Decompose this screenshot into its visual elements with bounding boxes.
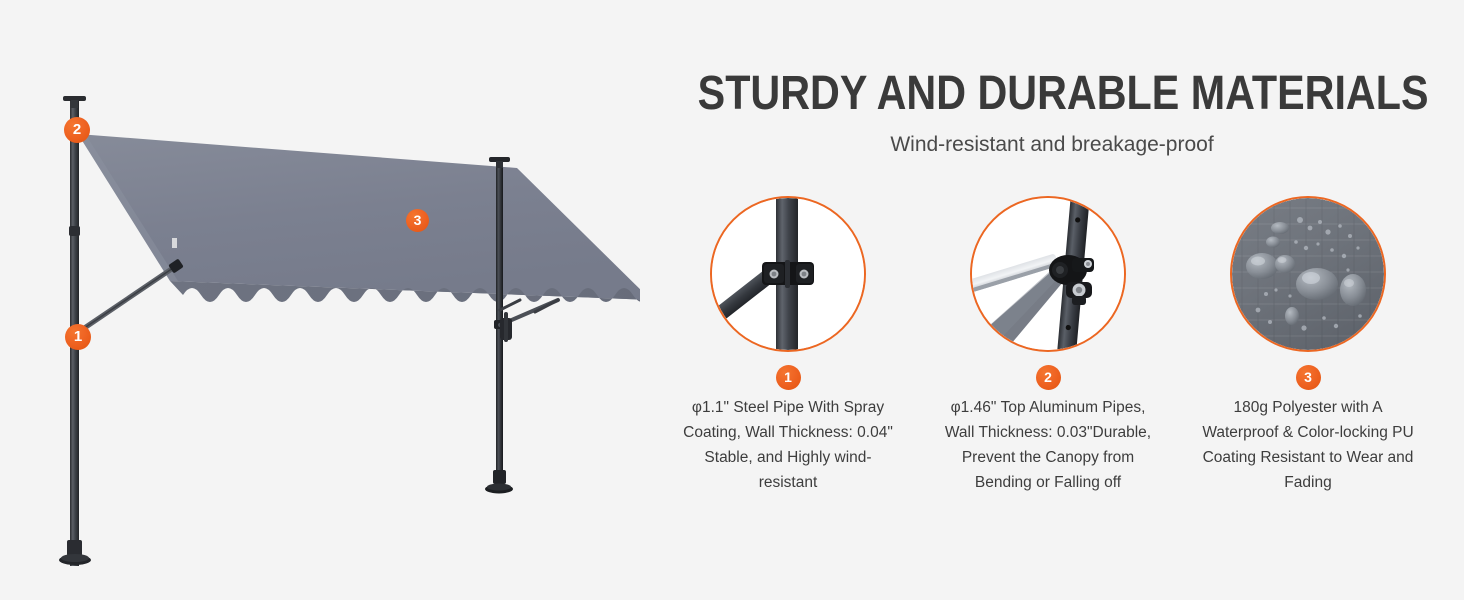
feature-list: 1 φ1.1" Steel Pipe With Spray Coating, W… [640,196,1464,495]
feature-1-badge-wrap: 1 [776,362,801,392]
feature-2-image [970,196,1126,352]
feature-3-image [1230,196,1386,352]
feature-item-1: 1 φ1.1" Steel Pipe With Spray Coating, W… [673,196,903,495]
steel-pipe-bracket-icon [712,198,864,350]
feature-2-badge: 2 [1036,365,1061,390]
hero-marker-1: 1 [65,324,91,350]
hero-marker-3: 3 [406,209,429,232]
feature-item-2: 2 φ1.46" Top Aluminum Pipes, Wall Thickn… [933,196,1163,495]
feature-2-caption: φ1.46" Top Aluminum Pipes, Wall Thicknes… [936,395,1161,495]
infographic-canvas: 2 1 3 STURDY AND DURABLE MATERIALS Wind-… [0,0,1464,600]
content-panel: STURDY AND DURABLE MATERIALS Wind-resist… [640,0,1464,600]
waterproof-fabric-droplets-icon [1232,198,1384,350]
feature-2-badge-wrap: 2 [1036,362,1061,392]
page-subtitle: Wind-resistant and breakage-proof [640,133,1464,157]
feature-3-badge: 3 [1296,365,1321,390]
feature-3-caption: 180g Polyester with A Waterproof & Color… [1196,395,1421,495]
feature-item-3: 3 180g Polyester with A Waterproof & Col… [1193,196,1423,495]
feature-1-caption: φ1.1" Steel Pipe With Spray Coating, Wal… [676,395,901,495]
product-hero-image: 2 1 3 [0,0,640,600]
feature-1-badge: 1 [776,365,801,390]
feature-1-image [710,196,866,352]
feature-3-badge-wrap: 3 [1296,362,1321,392]
page-title: STURDY AND DURABLE MATERIALS [698,66,1407,121]
hero-marker-2: 2 [64,117,90,143]
awning-illustration [0,0,640,600]
aluminum-pipe-joint-icon [972,198,1124,350]
